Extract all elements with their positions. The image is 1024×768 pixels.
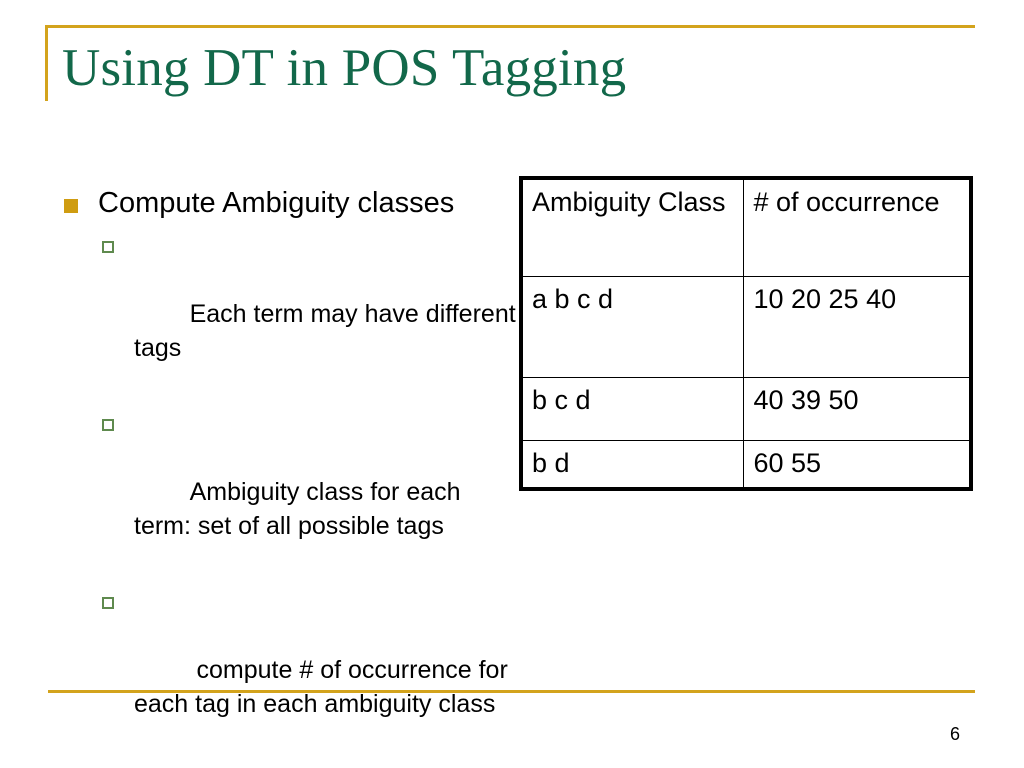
table-cell-counts: 40 39 50 [744,378,971,441]
ambiguity-class-table: Ambiguity Class # of occurrence a b c d … [519,176,973,491]
table-header-row: Ambiguity Class # of occurrence [521,178,971,276]
list-item: compute # of occurrence for each tag in … [50,585,520,755]
hollow-square-marker [102,241,114,253]
hollow-square-marker [102,597,114,609]
list-item-label: Ambiguity class for each term: set of al… [134,478,467,540]
sub-bullet-list: Each term may have different tags Ambigu… [50,229,520,755]
title-top-rule [45,25,975,28]
title-left-rule [45,25,48,101]
table-row: b d 60 55 [521,440,971,489]
table-cell-counts: 10 20 25 40 [744,276,971,377]
table-row: a b c d 10 20 25 40 [521,276,971,377]
hollow-square-marker [102,419,114,431]
table-cell-class: b c d [521,378,744,441]
page-number: 6 [930,722,980,746]
footer-rule [48,690,975,693]
list-item: Ambiguity class for each term: set of al… [50,407,520,577]
list-item-label: Each term may have different tags [134,300,523,362]
list-item-label: Compute Ambiguity classes [98,187,454,219]
list-item-label: compute # of occurrence for each tag in … [134,656,515,718]
table-cell-class: a b c d [521,276,744,377]
table-cell-counts: 60 55 [744,440,971,489]
list-item: Compute Ambiguity classes [50,184,520,223]
slide-canvas: Using DT in POS Tagging Compute Ambiguit… [0,0,1024,768]
table-header-cell-occurrence: # of occurrence [744,178,971,276]
table-header-cell-ambiguity-class: Ambiguity Class [521,178,744,276]
table-row: b c d 40 39 50 [521,378,971,441]
list-item: Each term may have different tags [50,229,520,399]
bullet-list: Compute Ambiguity classes Each term may … [50,184,520,763]
table-cell-class: b d [521,440,744,489]
page-title: Using DT in POS Tagging [62,33,942,103]
filled-square-marker [64,199,78,213]
